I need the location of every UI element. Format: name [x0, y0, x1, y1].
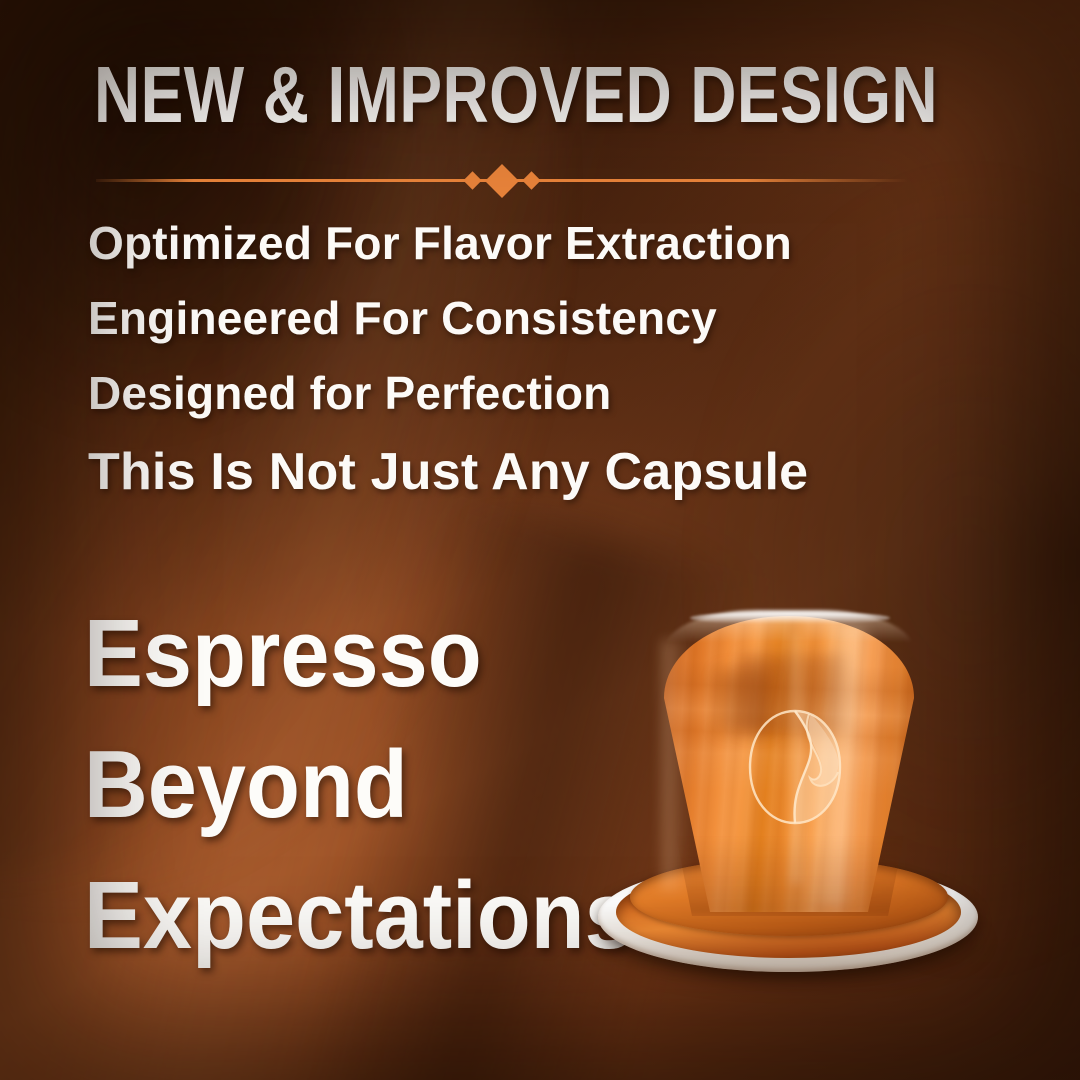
coffee-bean-flame-logo [745, 708, 845, 826]
feature-item: Engineered For Consistency [88, 281, 888, 356]
headline-block: NEW & IMPROVED DESIGN [0, 58, 1080, 132]
slogan-line: Expectations [84, 850, 654, 981]
capsule-dome-top-glint [690, 612, 890, 624]
feature-item: Designed for Perfection [88, 356, 888, 431]
slogan-line: Beyond [84, 719, 654, 850]
slogan-line: Espresso [84, 588, 654, 719]
page-title: NEW & IMPROVED DESIGN [94, 58, 883, 132]
product-capsule-image [590, 600, 990, 990]
divider-diamond-center-icon [485, 164, 519, 198]
feature-list: Optimized For Flavor Extraction Engineer… [88, 206, 888, 513]
feature-item-emphasis: This Is Not Just Any Capsule [88, 431, 888, 513]
promo-poster: NEW & IMPROVED DESIGN Optimized For Flav… [0, 0, 1080, 1080]
divider-diamond-right-icon [522, 171, 540, 189]
feature-item: Optimized For Flavor Extraction [88, 206, 888, 281]
capsule-bottom-shading [676, 836, 904, 916]
divider [96, 166, 908, 196]
divider-diamond-left-icon [463, 171, 481, 189]
